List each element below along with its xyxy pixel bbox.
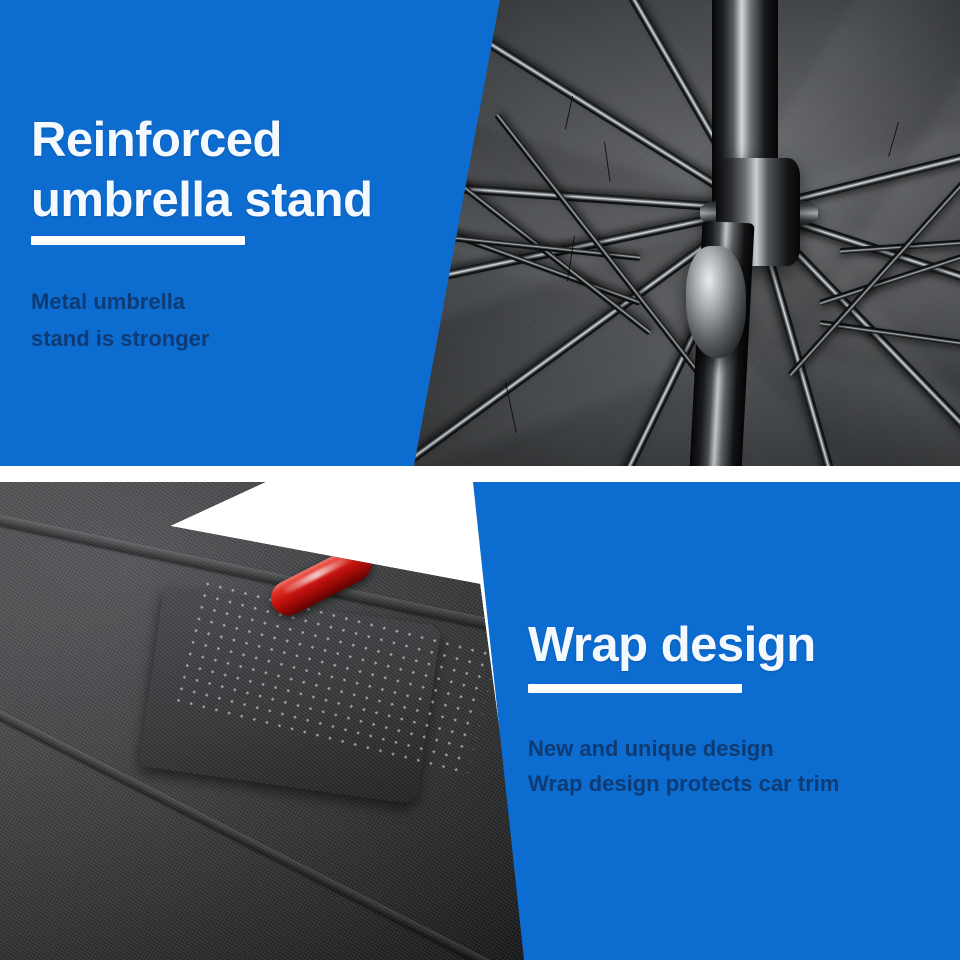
bottom-subtitle-line1: New and unique design — [528, 730, 774, 768]
top-subtitle-line1: Metal umbrella — [31, 283, 185, 321]
top-heading-line2: umbrella stand — [31, 172, 373, 228]
bottom-subtitle-line2: Wrap design protects car trim — [528, 765, 839, 803]
bottom-feature-panel: Wrap design New and unique design Wrap d… — [0, 466, 960, 960]
bottom-heading-line1: Wrap design — [528, 617, 816, 673]
top-heading-line1: Reinforced — [31, 112, 282, 168]
top-heading-underline — [31, 236, 245, 245]
top-subtitle-line2: stand is stronger — [31, 320, 209, 358]
panel-divider — [0, 466, 960, 482]
feature-panel-collage: Reinforced umbrella stand Metal umbrella… — [0, 0, 960, 960]
top-feature-panel: Reinforced umbrella stand Metal umbrella… — [0, 0, 960, 466]
bottom-heading-underline — [528, 684, 742, 693]
